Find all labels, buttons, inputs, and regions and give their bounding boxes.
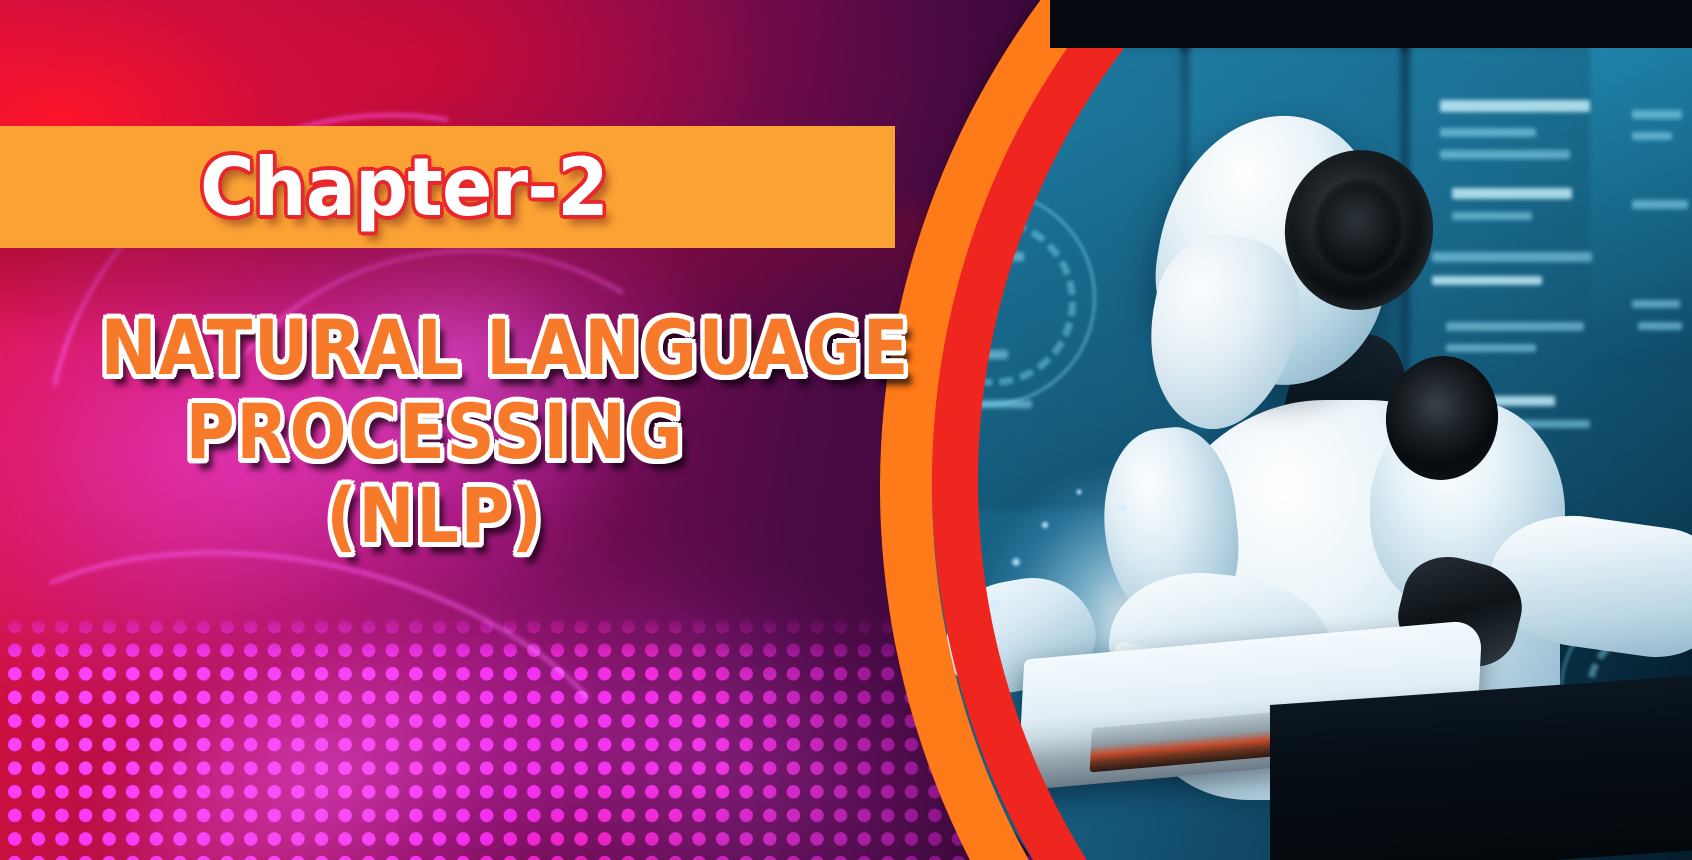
screen-text-line <box>912 150 1012 159</box>
screen-text-line <box>1440 128 1536 137</box>
screen-text-line <box>1440 100 1590 112</box>
screen-text-line <box>1632 110 1682 119</box>
screen-text-line <box>1432 276 1542 285</box>
desk-surface <box>1270 675 1692 860</box>
holographic-sparkle <box>990 600 999 609</box>
holographic-sparkle <box>1120 505 1127 512</box>
screen-text-line <box>912 176 978 185</box>
hud-ring-dashed <box>908 218 1076 386</box>
page-title: NATURAL LANGUAGE PROCESSING (NLP) <box>55 306 815 558</box>
title-line-3: (NLP) <box>101 474 770 558</box>
screen-text-line <box>1638 322 1682 330</box>
holographic-sparkle <box>1040 520 1050 530</box>
screen-text-line <box>1440 150 1570 159</box>
screen-text-line <box>1632 300 1680 308</box>
chapter-title-slide: Chapter-2 NATURAL LANGUAGE PROCESSING (N… <box>0 0 1692 860</box>
title-line-2: PROCESSING <box>101 390 770 474</box>
robot-photo-circle <box>900 0 1692 860</box>
screen-text-line <box>1446 322 1584 331</box>
chapter-label: Chapter-2 <box>200 126 758 248</box>
robot-photo <box>900 0 1692 860</box>
screen-text-line <box>1432 252 1592 262</box>
holographic-sparkle <box>1075 488 1083 496</box>
screen-text-line <box>1632 132 1672 140</box>
screen-text-line <box>1446 344 1536 352</box>
holographic-sparkle <box>1010 556 1022 568</box>
screen-text-line <box>1452 188 1572 199</box>
title-line-1: NATURAL LANGUAGE <box>101 306 770 390</box>
screen-text-line <box>1632 200 1688 209</box>
screen-text-line <box>1452 212 1532 220</box>
